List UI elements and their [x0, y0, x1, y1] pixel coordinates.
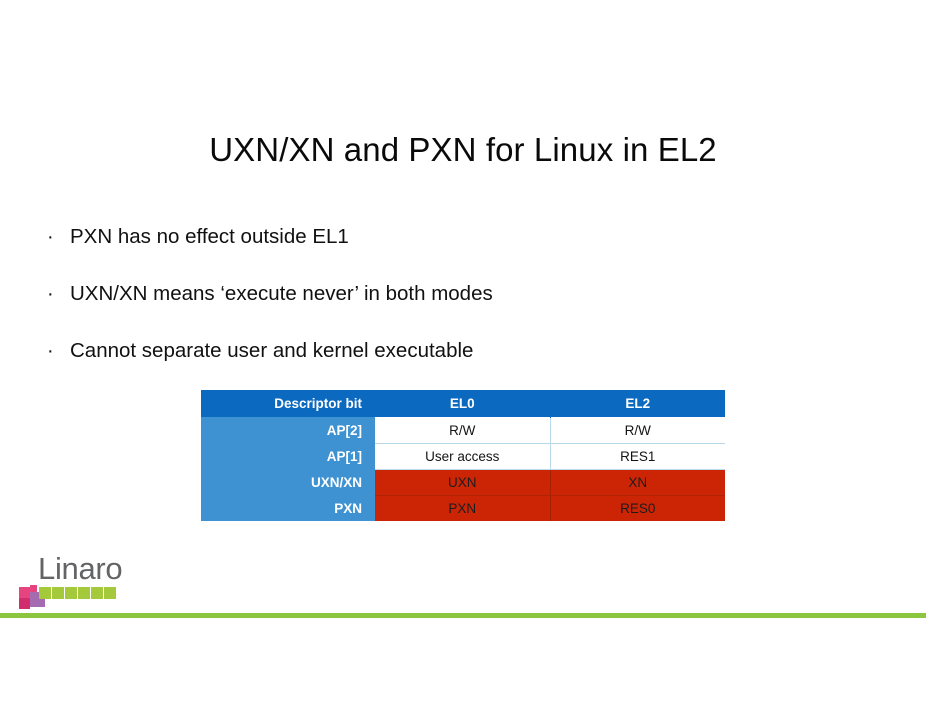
descriptor-bit-table: Descriptor bit EL0 EL2 AP[2] R/W R/W AP[…: [201, 390, 725, 521]
table-row: PXN PXN RES0: [201, 495, 725, 521]
cell-ap2-el2: R/W: [550, 417, 725, 443]
row-label-uxnxn: UXN/XN: [201, 469, 375, 495]
table-header-row: Descriptor bit EL0 EL2: [201, 390, 725, 417]
linaro-logo: Linaro: [19, 553, 199, 611]
logo-square-green-2: [52, 587, 64, 599]
bullet-list: · PXN has no effect outside EL1 · UXN/XN…: [44, 222, 804, 393]
row-label-ap1: AP[1]: [201, 443, 375, 469]
logo-square-pink-a: [19, 587, 30, 598]
logo-square-green-1: [39, 587, 51, 599]
logo-square-pink-b: [30, 585, 37, 592]
logo-square-magenta-a: [19, 598, 30, 609]
table-row: AP[2] R/W R/W: [201, 417, 725, 443]
column-header-el0: EL0: [375, 390, 550, 417]
footer-accent-rule: [0, 613, 926, 618]
bullet-dot-icon: ·: [44, 279, 70, 309]
row-label-pxn: PXN: [201, 495, 375, 521]
table-row: AP[1] User access RES1: [201, 443, 725, 469]
bullet-dot-icon: ·: [44, 222, 70, 252]
page-title: UXN/XN and PXN for Linux in EL2: [0, 131, 926, 169]
logo-square-green-4: [78, 587, 90, 599]
list-item-label: PXN has no effect outside EL1: [70, 222, 349, 252]
logo-square-green-5: [91, 587, 103, 599]
table-row: UXN/XN UXN XN: [201, 469, 725, 495]
slide-canvas: UXN/XN and PXN for Linux in EL2 · PXN ha…: [0, 0, 926, 716]
cell-ap2-el0: R/W: [375, 417, 550, 443]
list-item: · PXN has no effect outside EL1: [44, 222, 804, 252]
cell-uxnxn-el2: XN: [550, 469, 725, 495]
list-item: · UXN/XN means ‘execute never’ in both m…: [44, 279, 804, 309]
list-item: · Cannot separate user and kernel execut…: [44, 336, 804, 366]
bullet-dot-icon: ·: [44, 336, 70, 366]
row-label-ap2: AP[2]: [201, 417, 375, 443]
column-header-el2: EL2: [550, 390, 725, 417]
list-item-label: UXN/XN means ‘execute never’ in both mod…: [70, 279, 493, 309]
logo-square-green-3: [65, 587, 77, 599]
cell-ap1-el2: RES1: [550, 443, 725, 469]
cell-ap1-el0: User access: [375, 443, 550, 469]
linaro-wordmark: Linaro: [38, 553, 122, 584]
cell-pxn-el2: RES0: [550, 495, 725, 521]
list-item-label: Cannot separate user and kernel executab…: [70, 336, 473, 366]
column-header-descriptor-bit: Descriptor bit: [201, 390, 375, 417]
logo-square-green-6: [104, 587, 116, 599]
cell-uxnxn-el0: UXN: [375, 469, 550, 495]
cell-pxn-el0: PXN: [375, 495, 550, 521]
